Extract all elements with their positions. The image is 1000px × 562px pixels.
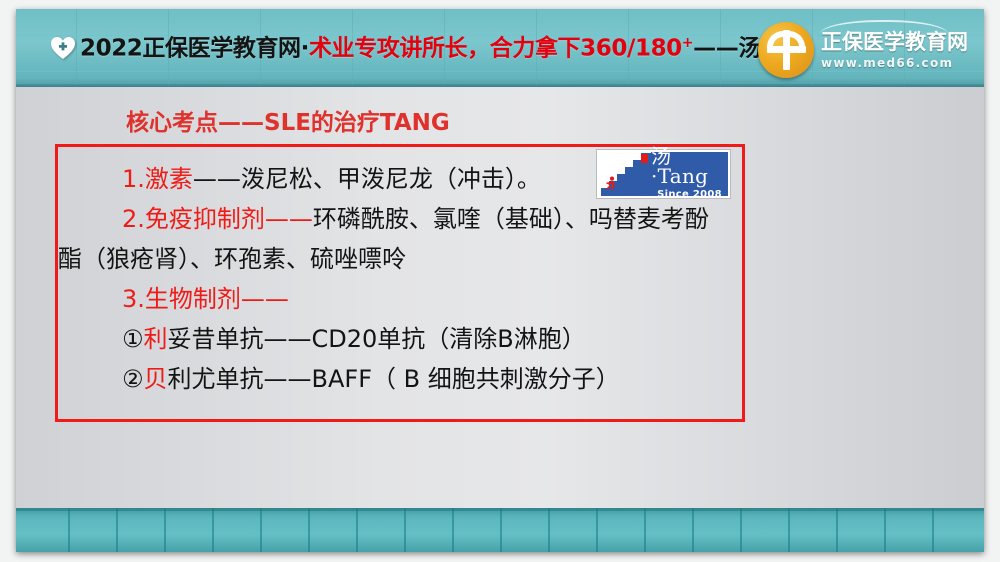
content-box: 汤·Tang Since 2008 1.激素——泼尼松、甲泼尼龙（冲击）。 2.… [55,144,745,422]
header-row: 2022正保医学教育网·术业专攻讲所长，合力拿下360/180+——汤以恒 正保… [16,9,984,87]
slide-inner: 2022正保医学教育网·术业专攻讲所长，合力拿下360/180+——汤以恒 正保… [16,9,984,552]
line-3b-seg-highlight: 贝 [144,365,168,393]
header-title-superscript: + [682,35,693,51]
slide-body: 核心考点——SLE的治疗TANG [16,87,984,508]
content-line-1: 1.激素——泼尼松、甲泼尼龙（冲击）。 [58,167,742,191]
page-title: 核心考点——SLE的治疗TANG [126,103,450,137]
content-line-3a: ①利妥昔单抗——CD20单抗（清除B淋胞） [58,327,742,351]
content-line-2-continuation: 酯（狼疮肾）、环孢素、硫唑嘌呤 [58,247,742,271]
line-1-seg-1: 1.激素 [122,165,193,193]
line-2-cont-seg-1: 酯（狼疮肾）、环孢素、硫唑嘌呤 [58,245,406,273]
line-3a-seg-rest: 妥昔单抗——CD20单抗（清除B淋胞） [168,325,586,353]
content-lines: 1.激素——泼尼松、甲泼尼龙（冲击）。 2.免疫抑制剂——环磷酰胺、氯喹（基础）… [58,167,742,407]
header-title-part-1: 2022正保医学教育网· [80,35,309,61]
brand-text: 正保医学教育网 www.med66.com [821,32,968,69]
footer-banner [16,508,984,552]
heart-plus-icon [50,36,76,60]
brand-swoosh-decoration [820,20,948,36]
content-line-3: 3.生物制剂—— [58,287,742,311]
brand-logo: 正保医学教育网 www.med66.com [758,22,968,78]
line-1-seg-2: ——泼尼松、甲泼尼龙（冲击）。 [193,165,541,193]
content-line-2: 2.免疫抑制剂——环磷酰胺、氯喹（基础）、吗替麦考酚 [58,207,742,231]
line-3-seg-1: 3.生物制剂—— [122,285,289,313]
header-title-part-2: 术业专攻讲所长，合力拿下360/180 [309,35,682,61]
line-2-seg-2: 环磷酰胺、氯喹（基础）、吗替麦考酚 [313,205,709,233]
line-3a-marker: ① [122,325,144,353]
line-3b-seg-rest: 利尤单抗——BAFF（ B 细胞共刺激分子） [168,365,620,393]
brand-url: www.med66.com [821,57,968,69]
line-2-seg-1: 2.免疫抑制剂—— [122,205,313,233]
line-3a-seg-highlight: 利 [144,325,168,353]
content-line-3b: ②贝利尤单抗——BAFF（ B 细胞共刺激分子） [58,367,742,391]
header-title: 2022正保医学教育网·术业专攻讲所长，合力拿下360/180+——汤以恒 [80,36,806,61]
presentation-slide: 2022正保医学教育网·术业专攻讲所长，合力拿下360/180+——汤以恒 正保… [0,0,1000,562]
line-3b-marker: ② [122,365,144,393]
med66-cross-logo-icon [758,22,814,78]
